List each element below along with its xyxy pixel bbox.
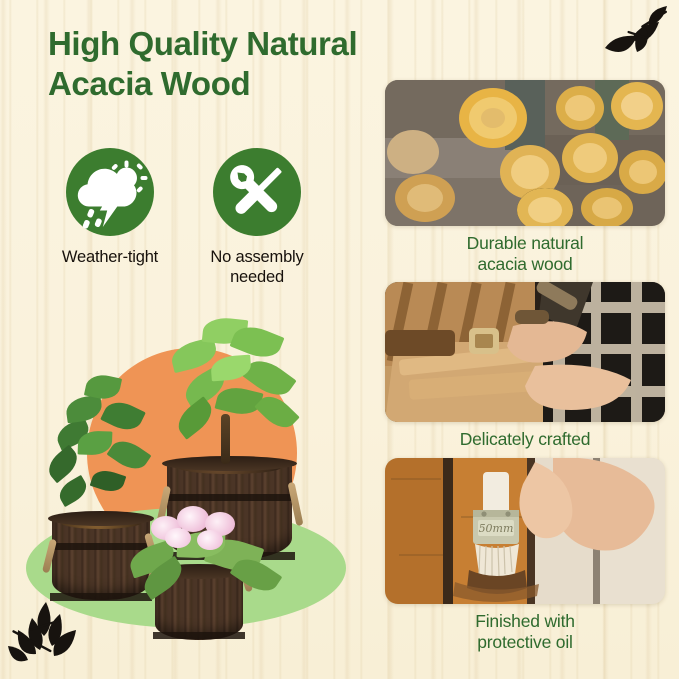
storm-cloud-icon xyxy=(66,148,154,236)
feature-label-line-1: No assembly xyxy=(210,248,303,266)
violet-blossom xyxy=(197,530,223,550)
planter-african-violet xyxy=(155,568,243,640)
caption-line-2: acacia wood xyxy=(477,254,572,274)
page-title-line-2: Acacia Wood xyxy=(48,64,378,104)
feature-no-assembly-label: No assembly needed xyxy=(182,247,332,287)
violet-blossom xyxy=(165,528,191,548)
caption-line-1: Finished with xyxy=(475,611,575,631)
feature-weather-tight-label: Weather-tight xyxy=(35,247,185,267)
page-title: High Quality Natural Acacia Wood xyxy=(48,24,378,105)
card-finished-with-protective-oil: 50mm Finished with protective oil xyxy=(385,458,665,653)
brush-size-label: 50mm xyxy=(479,522,514,535)
card-caption: Finished with protective oil xyxy=(385,611,665,653)
pot-band xyxy=(50,543,152,550)
stacked-acacia-logs-photo xyxy=(385,80,665,226)
card-caption: Durable natural acacia wood xyxy=(385,233,665,275)
pot-rim xyxy=(48,511,154,526)
caption-line-1: Durable natural xyxy=(467,233,584,253)
page-title-line-1: High Quality Natural xyxy=(48,25,357,62)
leaf-sprig-top-right-icon xyxy=(601,2,673,69)
plant-stem xyxy=(221,414,230,464)
brush-applying-oil-photo: 50mm xyxy=(385,458,665,604)
pot-band xyxy=(165,494,295,501)
pot-band xyxy=(153,632,245,639)
leaf-sprig-bottom-left-icon xyxy=(6,600,96,675)
feature-label-line-1: Weather-tight xyxy=(62,248,158,266)
infographic-canvas: High Quality Natural Acacia Wood xyxy=(0,0,679,679)
feature-weather-tight: Weather-tight xyxy=(35,148,185,267)
card-delicately-crafted: Delicately crafted xyxy=(385,282,665,450)
caption-line-1: Delicately crafted xyxy=(460,429,591,449)
card-durable-natural-acacia-wood: Durable natural acacia wood xyxy=(385,80,665,275)
wrench-screwdriver-icon xyxy=(213,148,301,236)
feature-no-assembly: No assembly needed xyxy=(182,148,332,287)
caption-line-2: protective oil xyxy=(477,632,572,652)
card-caption: Delicately crafted xyxy=(385,429,665,450)
feature-label-line-2: needed xyxy=(230,268,284,286)
craftsman-sanding-wood-photo xyxy=(385,282,665,422)
